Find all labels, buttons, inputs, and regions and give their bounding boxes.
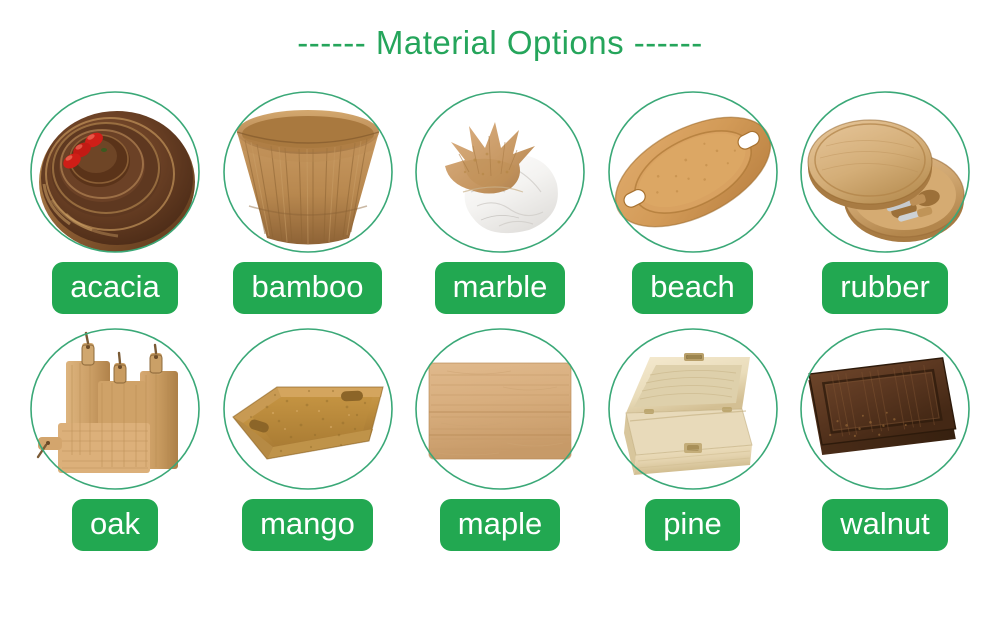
material-thumb-rubber[interactable]: [792, 88, 978, 256]
page-title: ------ Material Options ------: [0, 24, 1000, 62]
bamboo-bowl-image: [215, 88, 401, 256]
material-label-pine[interactable]: pine: [645, 499, 740, 551]
walnut-board-image: [792, 325, 978, 493]
beech-oval-tray-image: [600, 88, 786, 256]
material-options-page: ------ Material Options ------: [0, 0, 1000, 634]
marble-pineapple-board-image: [407, 88, 593, 256]
material-row-2: oak: [22, 325, 978, 551]
material-card-walnut[interactable]: walnut: [792, 325, 978, 551]
material-label-acacia[interactable]: acacia: [52, 262, 178, 314]
material-card-mango[interactable]: mango: [215, 325, 401, 551]
material-thumb-beach[interactable]: [600, 88, 786, 256]
rubberwood-cheese-board-image: [792, 88, 978, 256]
material-card-bamboo[interactable]: bamboo: [215, 88, 401, 314]
pine-box-image: [600, 325, 786, 493]
material-card-pine[interactable]: pine: [600, 325, 786, 551]
material-label-beach[interactable]: beach: [632, 262, 752, 314]
material-thumb-oak[interactable]: [22, 325, 208, 493]
material-thumb-marble[interactable]: [407, 88, 593, 256]
material-thumb-walnut[interactable]: [792, 325, 978, 493]
material-card-beach[interactable]: beach: [600, 88, 786, 314]
acacia-plates-image: [22, 88, 208, 256]
material-thumb-maple[interactable]: [407, 325, 593, 493]
material-label-walnut[interactable]: walnut: [822, 499, 948, 551]
material-label-bamboo[interactable]: bamboo: [233, 262, 381, 314]
material-label-marble[interactable]: marble: [435, 262, 566, 314]
material-label-maple[interactable]: maple: [440, 499, 560, 551]
material-thumb-pine[interactable]: [600, 325, 786, 493]
material-card-acacia[interactable]: acacia: [22, 88, 208, 314]
oak-cutting-boards-image: [22, 325, 208, 493]
mango-tray-image: [215, 325, 401, 493]
material-card-maple[interactable]: maple: [407, 325, 593, 551]
material-label-mango[interactable]: mango: [242, 499, 373, 551]
material-label-rubber[interactable]: rubber: [822, 262, 948, 314]
material-card-oak[interactable]: oak: [22, 325, 208, 551]
material-thumb-acacia[interactable]: [22, 88, 208, 256]
material-card-marble[interactable]: marble: [407, 88, 593, 314]
material-grid: acacia: [22, 88, 978, 551]
material-card-rubber[interactable]: rubber: [792, 88, 978, 314]
material-label-oak[interactable]: oak: [72, 499, 158, 551]
maple-board-image: [407, 325, 593, 493]
material-thumb-mango[interactable]: [215, 325, 401, 493]
material-thumb-bamboo[interactable]: [215, 88, 401, 256]
material-row-1: acacia: [22, 88, 978, 314]
